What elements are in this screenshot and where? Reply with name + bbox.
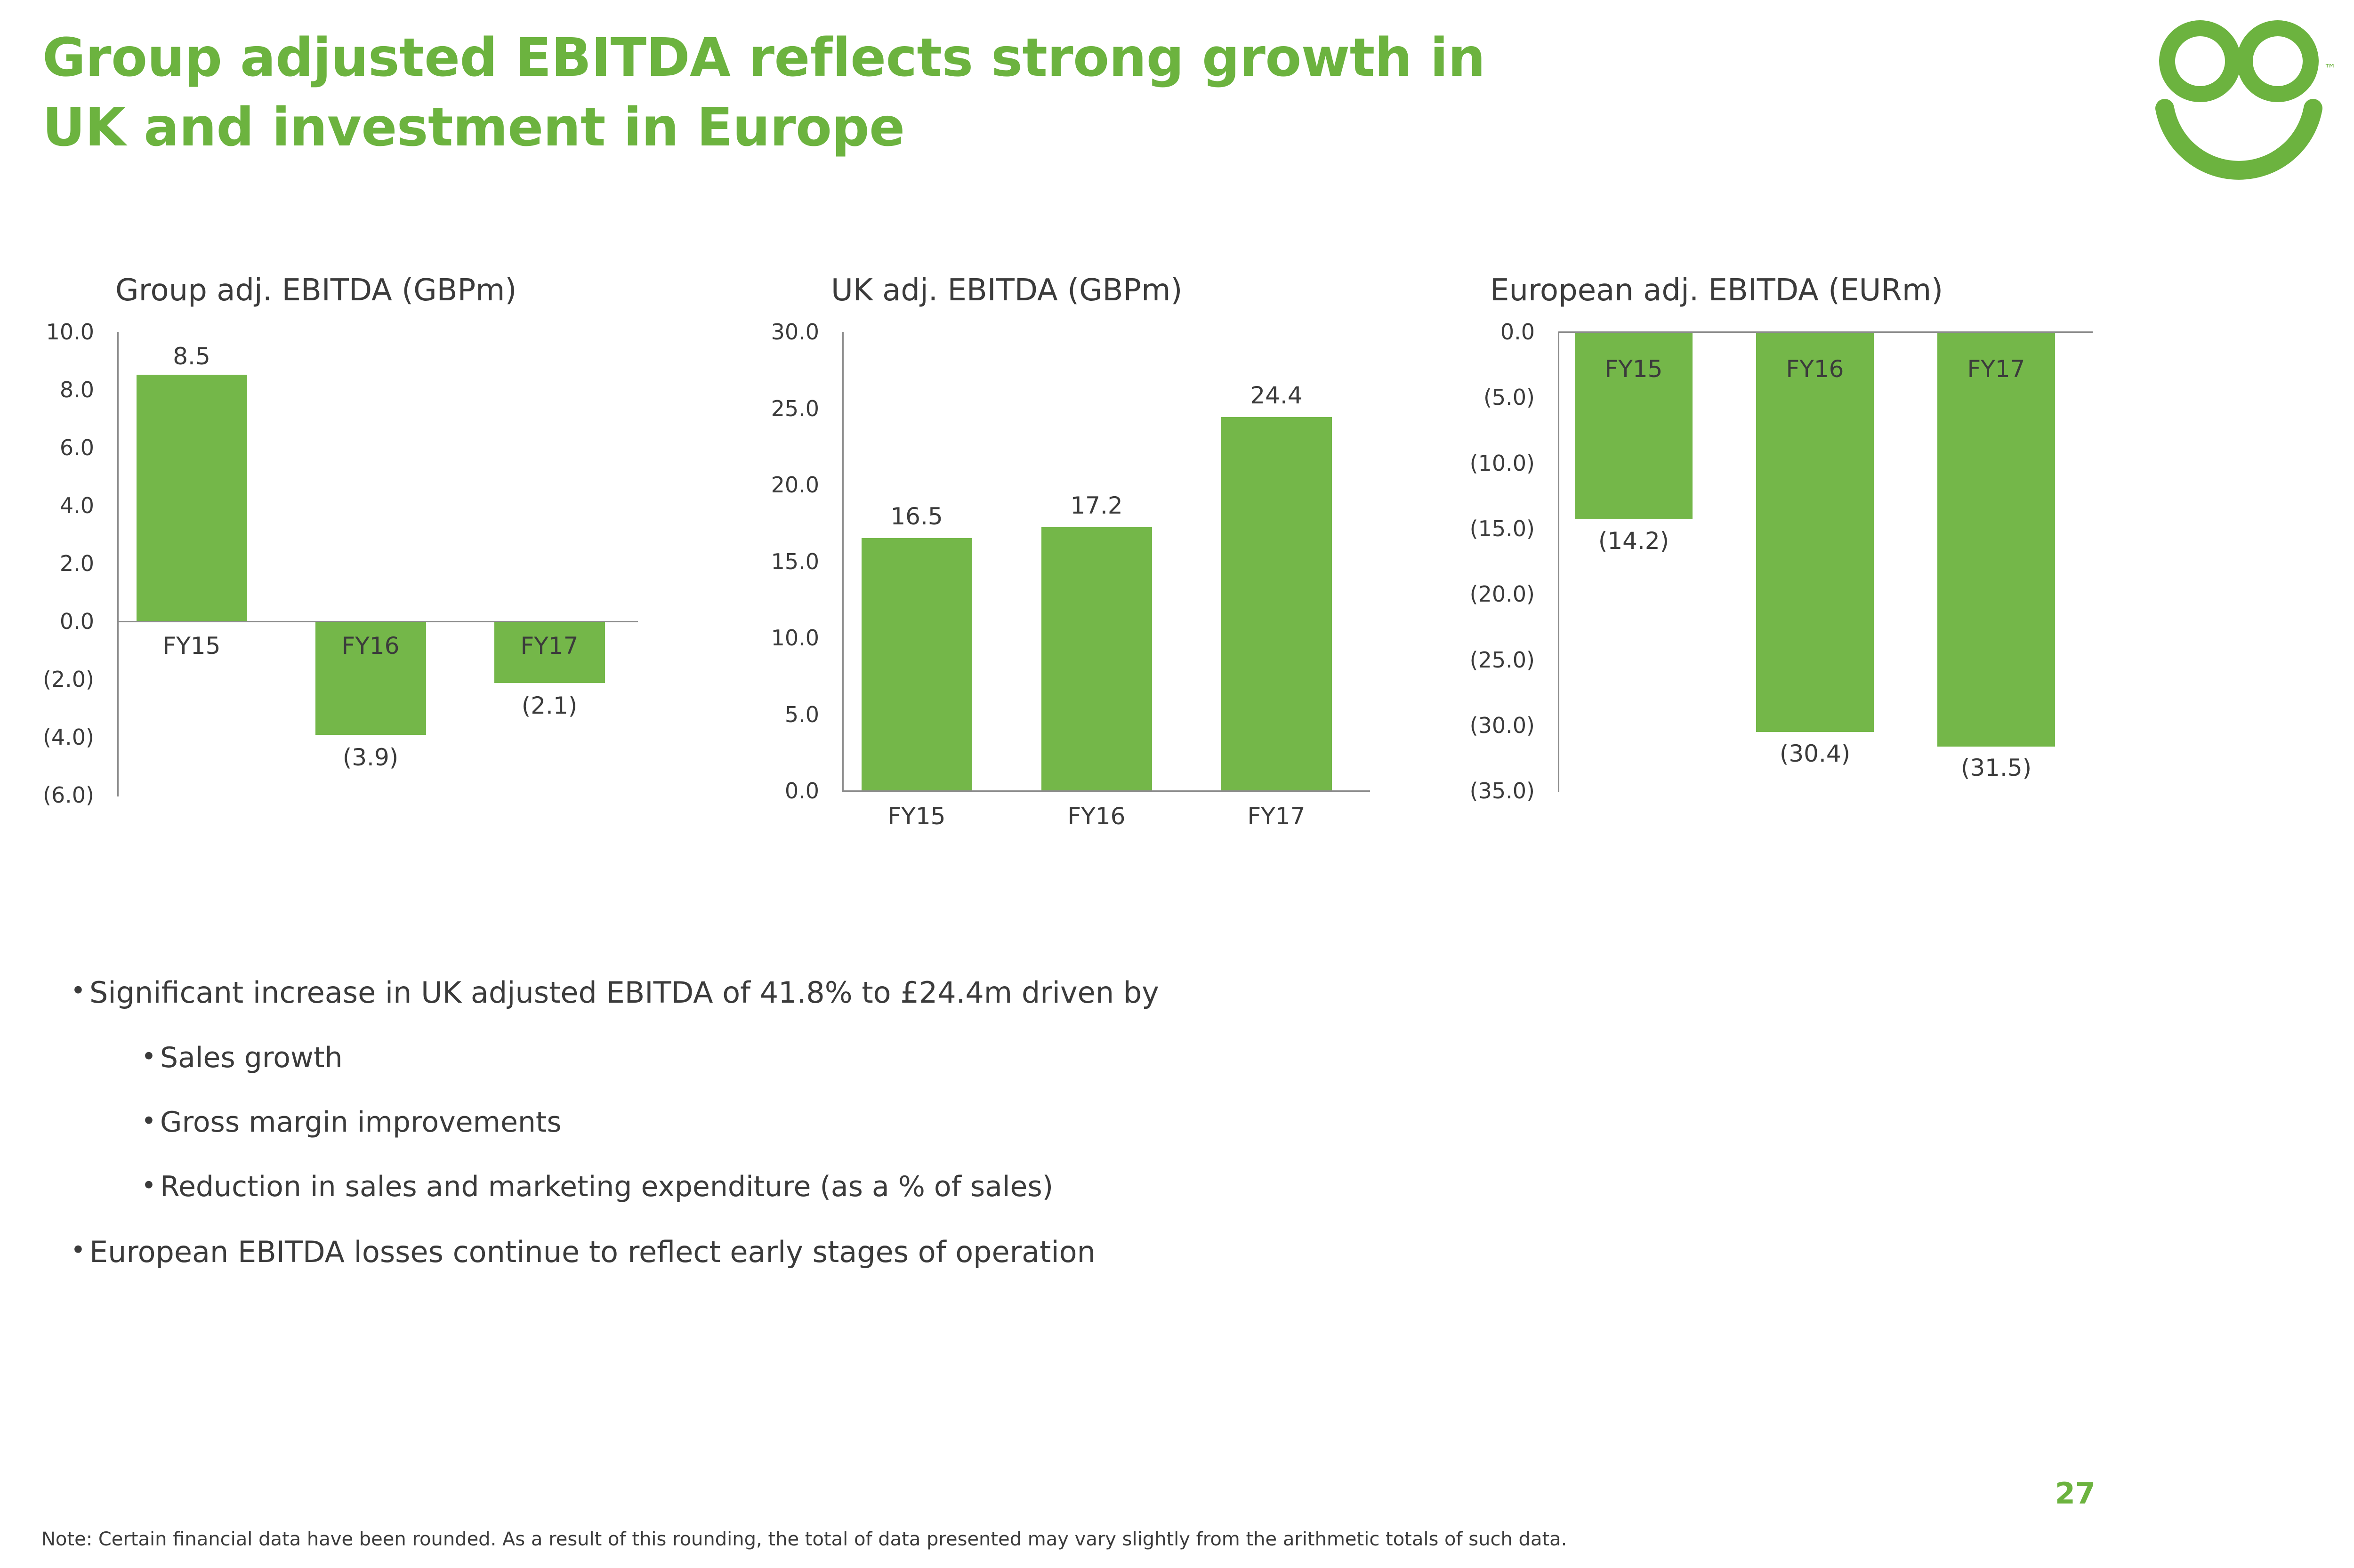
bar-label-group-fy17: (2.1) [522, 692, 578, 719]
ytick-uk-1: 25.0 [706, 396, 819, 421]
ytick-group-7: (4.0) [0, 724, 94, 750]
ytick-eu-7: (35.0) [1412, 778, 1535, 804]
bullet-dot-icon: • [141, 1169, 160, 1198]
cat-label-uk-fy15: FY15 [888, 803, 946, 830]
plot-area-group: 10.0 8.0 6.0 4.0 2.0 0.0 (2.0) (4.0) (6.… [0, 273, 706, 838]
bar-uk-fy17 [1221, 417, 1332, 790]
ytick-eu-5: (25.0) [1412, 647, 1535, 673]
y-axis-european [1558, 332, 1559, 792]
cat-label-uk-fy17: FY17 [1248, 803, 1306, 830]
page-number: 27 [2055, 1476, 2096, 1511]
bullet-text: Gross margin improvements [160, 1105, 562, 1140]
ytick-group-3: 4.0 [0, 493, 94, 518]
ytick-group-0: 10.0 [0, 319, 94, 345]
footnote: Note: Certain financial data have been r… [41, 1528, 1567, 1550]
plot-area-european: 0.0 (5.0) (10.0) (15.0) (20.0) (25.0) (3… [1412, 273, 2166, 838]
plot-area-uk: 30.0 25.0 20.0 15.0 10.0 5.0 0.0 16.5 FY… [706, 273, 1412, 838]
charts-row: Group adj. EBITDA (GBPm) 10.0 8.0 6.0 4.… [0, 273, 2354, 899]
ytick-group-4: 2.0 [0, 551, 94, 576]
bullet-list: • Significant increase in UK adjusted EB… [71, 974, 2142, 1299]
page-title: Group adjusted EBITDA reflects strong gr… [42, 24, 1926, 163]
cat-label-uk-fy16: FY16 [1068, 803, 1126, 830]
ytick-uk-5: 5.0 [706, 702, 819, 727]
cat-label-group-fy16: FY16 [342, 632, 400, 659]
bar-uk-fy16 [1041, 527, 1152, 790]
bullet-text: Significant increase in UK adjusted EBIT… [89, 974, 1159, 1011]
bar-eu-fy17 [1937, 333, 2055, 747]
ytick-eu-3: (15.0) [1412, 516, 1535, 541]
ytick-eu-0: 0.0 [1412, 319, 1535, 345]
ytick-eu-2: (10.0) [1412, 450, 1535, 476]
cat-label-eu-fy16: FY16 [1786, 355, 1844, 383]
ytick-uk-4: 10.0 [706, 625, 819, 651]
ytick-group-5: 0.0 [0, 609, 94, 634]
bullet-dot-icon: • [141, 1105, 160, 1134]
bar-eu-fy16 [1756, 333, 1874, 732]
y-axis-group [117, 332, 119, 796]
bar-label-eu-fy17: (31.5) [1961, 754, 2032, 781]
bullet-dot-icon: • [141, 1040, 160, 1069]
slide-root: Group adjusted EBITDA reflects strong gr… [0, 0, 2354, 1568]
ytick-eu-4: (20.0) [1412, 581, 1535, 607]
list-item: • European EBITDA losses continue to ref… [71, 1234, 2142, 1270]
bar-uk-fy15 [862, 538, 972, 790]
bullet-text: Reduction in sales and marketing expendi… [160, 1169, 1053, 1205]
bar-label-uk-fy15: 16.5 [890, 503, 943, 530]
ytick-eu-1: (5.0) [1412, 385, 1535, 410]
list-item: • Sales growth [71, 1040, 2142, 1076]
page-title-line-1: Group adjusted EBITDA reflects strong gr… [42, 24, 1926, 93]
cat-label-eu-fy17: FY17 [1967, 355, 2025, 383]
y-axis-uk [842, 332, 844, 792]
bullet-dot-icon: • [71, 1234, 89, 1263]
page-title-line-2: UK and investment in Europe [42, 93, 1926, 163]
bullet-text: European EBITDA losses continue to refle… [89, 1234, 1096, 1270]
bar-label-eu-fy16: (30.4) [1780, 740, 1850, 767]
cat-label-group-fy17: FY17 [521, 632, 579, 659]
ytick-uk-3: 15.0 [706, 549, 819, 574]
bar-group-fy15 [137, 375, 247, 621]
bar-label-group-fy15: 8.5 [173, 343, 210, 370]
bullet-dot-icon: • [71, 974, 89, 1004]
x-axis-uk [843, 790, 1370, 792]
list-item: • Reduction in sales and marketing expen… [71, 1169, 2142, 1205]
ytick-group-8: (6.0) [0, 782, 94, 808]
bar-label-uk-fy16: 17.2 [1070, 492, 1122, 519]
bar-label-uk-fy17: 24.4 [1250, 382, 1302, 409]
list-item: • Significant increase in UK adjusted EB… [71, 974, 2142, 1011]
ytick-eu-6: (30.0) [1412, 713, 1535, 738]
ytick-uk-6: 0.0 [706, 778, 819, 804]
svg-text:™: ™ [2324, 62, 2334, 76]
bar-label-group-fy16: (3.9) [343, 744, 399, 771]
ytick-uk-2: 20.0 [706, 472, 819, 498]
list-item: • Gross margin improvements [71, 1105, 2142, 1140]
cat-label-group-fy15: FY15 [163, 632, 221, 659]
bullet-text: Sales growth [160, 1040, 343, 1076]
cat-label-eu-fy15: FY15 [1605, 355, 1663, 383]
ytick-group-6: (2.0) [0, 667, 94, 692]
ytick-uk-0: 30.0 [706, 319, 819, 345]
bar-label-eu-fy15: (14.2) [1598, 527, 1669, 555]
ytick-group-1: 8.0 [0, 377, 94, 402]
ao-smiley-logo: ™ [2136, 16, 2334, 181]
ytick-group-2: 6.0 [0, 435, 94, 460]
